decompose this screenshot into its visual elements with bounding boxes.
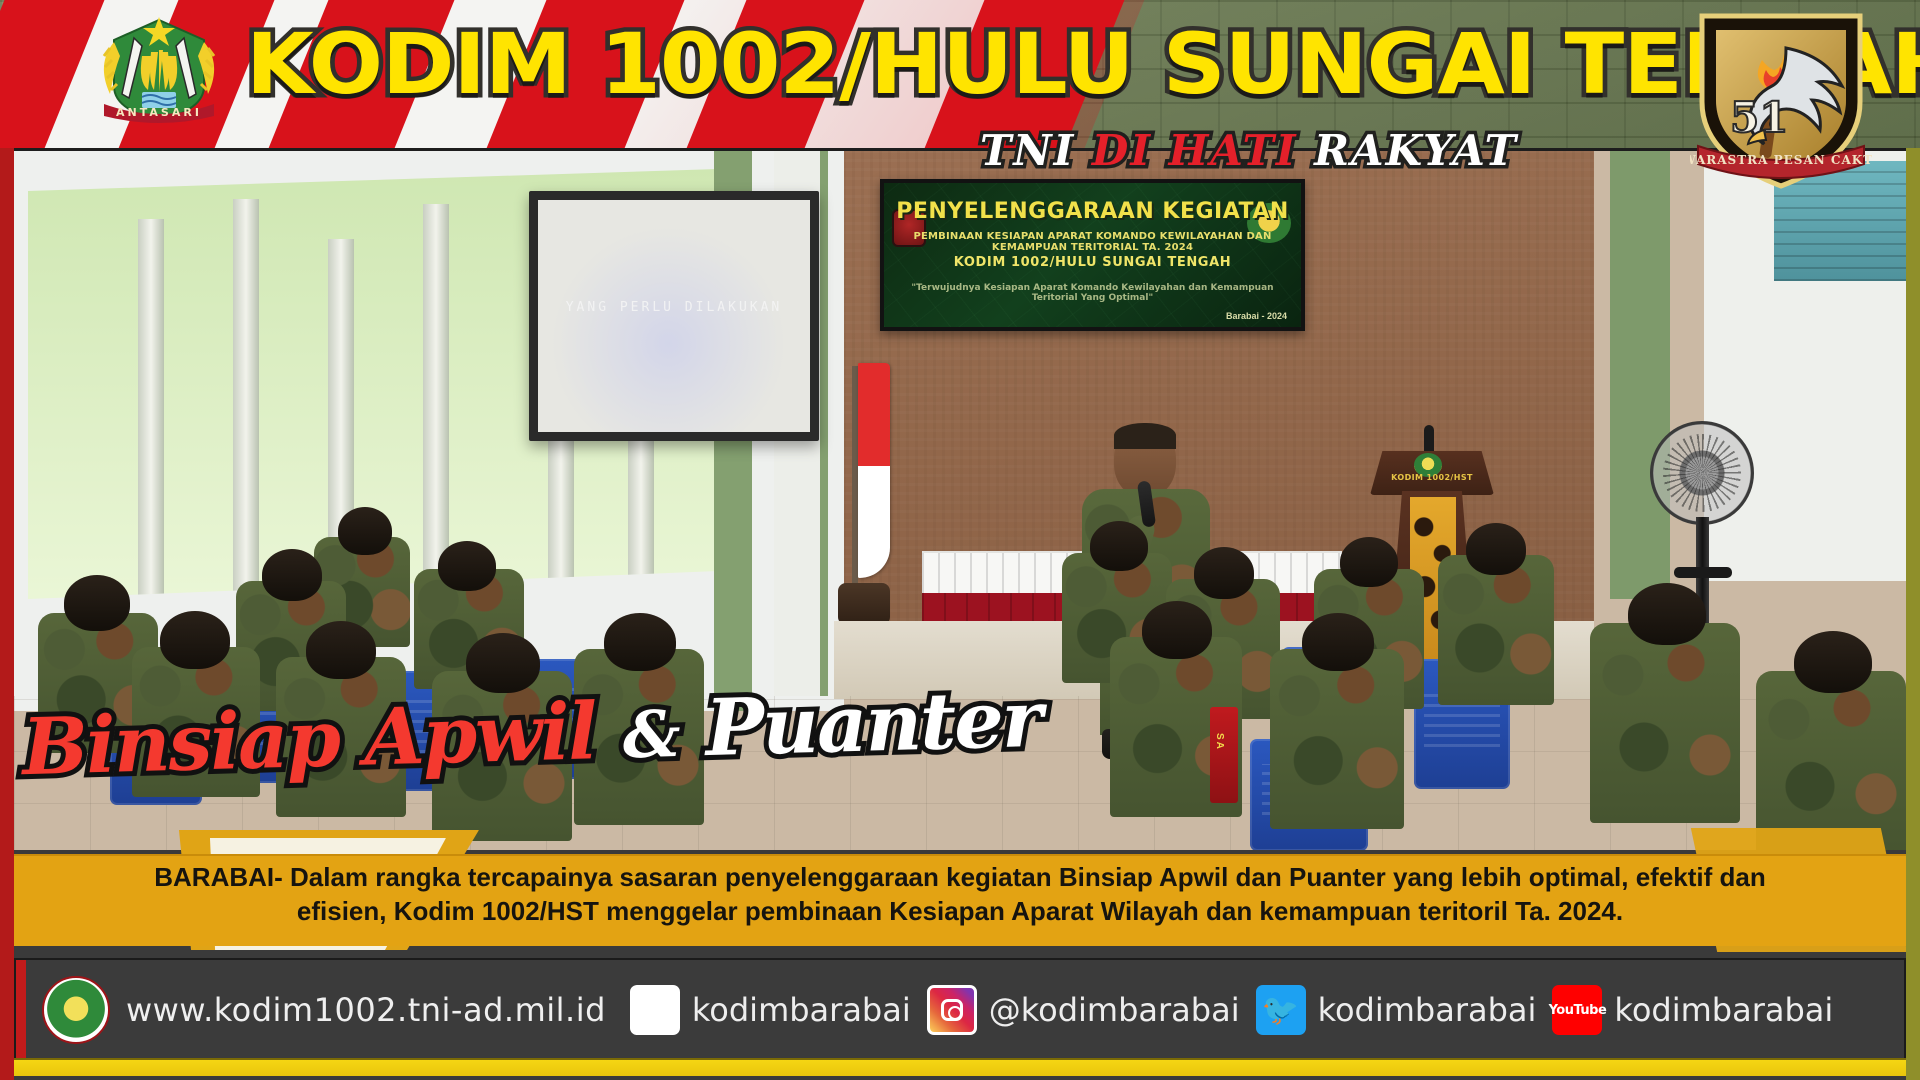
poster-canvas: ANTASARI KODIM 1002/HULU SUNGAI TENGAH T… [0, 0, 1920, 1080]
subtitle-part-dihati: DI HATI [1092, 126, 1314, 175]
backdrop-line-2: PEMBINAAN KESIAPAN APARAT KOMANDO KEWILA… [890, 231, 1295, 253]
youtube-handle[interactable]: kodimbarabai [1614, 991, 1833, 1029]
social-twitter[interactable]: 🐦 kodimbarabai [1256, 985, 1537, 1035]
social-instagram[interactable]: @kodimbarabai [927, 985, 1240, 1035]
script-ampersand: & [622, 697, 680, 774]
badge-motto: WARASTRA PESAN CAKTI [1690, 153, 1872, 167]
instagram-handle[interactable]: @kodimbarabai [989, 991, 1240, 1029]
audience-head [1302, 613, 1374, 671]
event-backdrop-banner: PENYELENGGARAAN KEGIATAN PEMBINAAN KESIA… [880, 179, 1305, 331]
backdrop-line-4: "Terwujudnya Kesiapan Aparat Komando Kew… [904, 283, 1281, 303]
unit-pennant-flag: SA [1210, 707, 1238, 803]
subtitle-part-rakyat: RAKYAT [1314, 126, 1518, 175]
flag-stand [838, 583, 890, 625]
audience-head [604, 613, 676, 671]
backdrop-place: Barabai - 2024 [1226, 311, 1287, 321]
social-facebook[interactable]: f kodimbarabai [630, 985, 911, 1035]
footer-bar: www.kodim1002.tni-ad.mil.id f kodimbarab… [14, 958, 1906, 1062]
audience-head [160, 611, 230, 669]
audience-member [1590, 623, 1740, 823]
audience-member [1756, 671, 1906, 850]
projector-glow [538, 200, 810, 432]
caption-line-2: efisien, Kodim 1002/HST menggelar pembin… [54, 894, 1866, 928]
script-puanter: Puanter [704, 674, 1042, 774]
header-subtitle: TNI DI HATI RAKYAT [980, 126, 1518, 175]
audience-member [1270, 649, 1404, 829]
tree-trunk [423, 204, 449, 599]
audience-head [338, 507, 392, 555]
projector-screen-text: YANG PERLU DILAKUKAN [538, 300, 810, 315]
fan-head-icon [1650, 421, 1754, 525]
instagram-icon[interactable] [927, 985, 977, 1035]
indonesian-flag [858, 363, 890, 578]
pennant-text: SA [1214, 733, 1225, 751]
right-border [1906, 148, 1920, 1080]
yonif-51-eagle-torch-badge-icon: 51 WARASTRA PESAN CAKTI [1690, 6, 1872, 192]
youtube-icon[interactable]: YouTube [1552, 985, 1602, 1035]
caption-area: BARABAI- Dalam rangka tercapainya sasara… [14, 848, 1906, 952]
audience-head [438, 541, 496, 591]
script-binsiap-apwil: Binsiap Apwil [21, 686, 597, 793]
audience-head [306, 621, 376, 679]
badge-number: 51 [1730, 93, 1788, 142]
backdrop-line-1: PENYELENGGARAAN KEGIATAN [884, 199, 1301, 224]
korem-antasari-emblem-icon: ANTASARI [84, 12, 234, 124]
fan-adjust-knob [1674, 567, 1732, 578]
footer-red-edge [16, 960, 26, 1062]
social-youtube[interactable]: YouTube kodimbarabai [1552, 985, 1833, 1035]
audience-head [1090, 521, 1148, 571]
audience-head [262, 549, 322, 601]
audience-head [1142, 601, 1212, 659]
tree-trunk [233, 199, 259, 599]
audience-head [1628, 583, 1706, 645]
audience-head [64, 575, 130, 631]
officer-hair [1114, 423, 1176, 449]
audience-member [1438, 555, 1554, 705]
caption-line-1: BARABAI- Dalam rangka tercapainya sasara… [54, 860, 1866, 894]
facebook-handle[interactable]: kodimbarabai [692, 991, 911, 1029]
website-url[interactable]: www.kodim1002.tni-ad.mil.id [126, 991, 606, 1029]
bottom-yellow-bar [14, 1058, 1906, 1076]
kodim-1002-logo-icon [42, 976, 110, 1044]
audience-head [1340, 537, 1398, 587]
left-red-border [0, 148, 14, 1080]
page-title: KODIM 1002/HULU SUNGAI TENGAH [246, 10, 1702, 122]
subtitle-part-tni: TNI [980, 126, 1092, 175]
emblem-scroll-text: ANTASARI [116, 106, 202, 119]
caption-text: BARABAI- Dalam rangka tercapainya sasara… [54, 860, 1866, 928]
projector-screen: YANG PERLU DILAKUKAN [529, 191, 819, 441]
youtube-wordmark: YouTube [1549, 1003, 1607, 1018]
twitter-icon[interactable]: 🐦 [1256, 985, 1306, 1035]
tree-trunk [138, 219, 164, 599]
audience-head [1466, 523, 1526, 575]
twitter-handle[interactable]: kodimbarabai [1318, 991, 1537, 1029]
audience-head [1794, 631, 1872, 693]
podium-label: KODIM 1002/HST [1370, 473, 1494, 482]
facebook-icon[interactable]: f [630, 985, 680, 1035]
audience-head [466, 633, 540, 693]
audience-head [1194, 547, 1254, 599]
backdrop-line-3: KODIM 1002/HULU SUNGAI TENGAH [884, 255, 1301, 270]
